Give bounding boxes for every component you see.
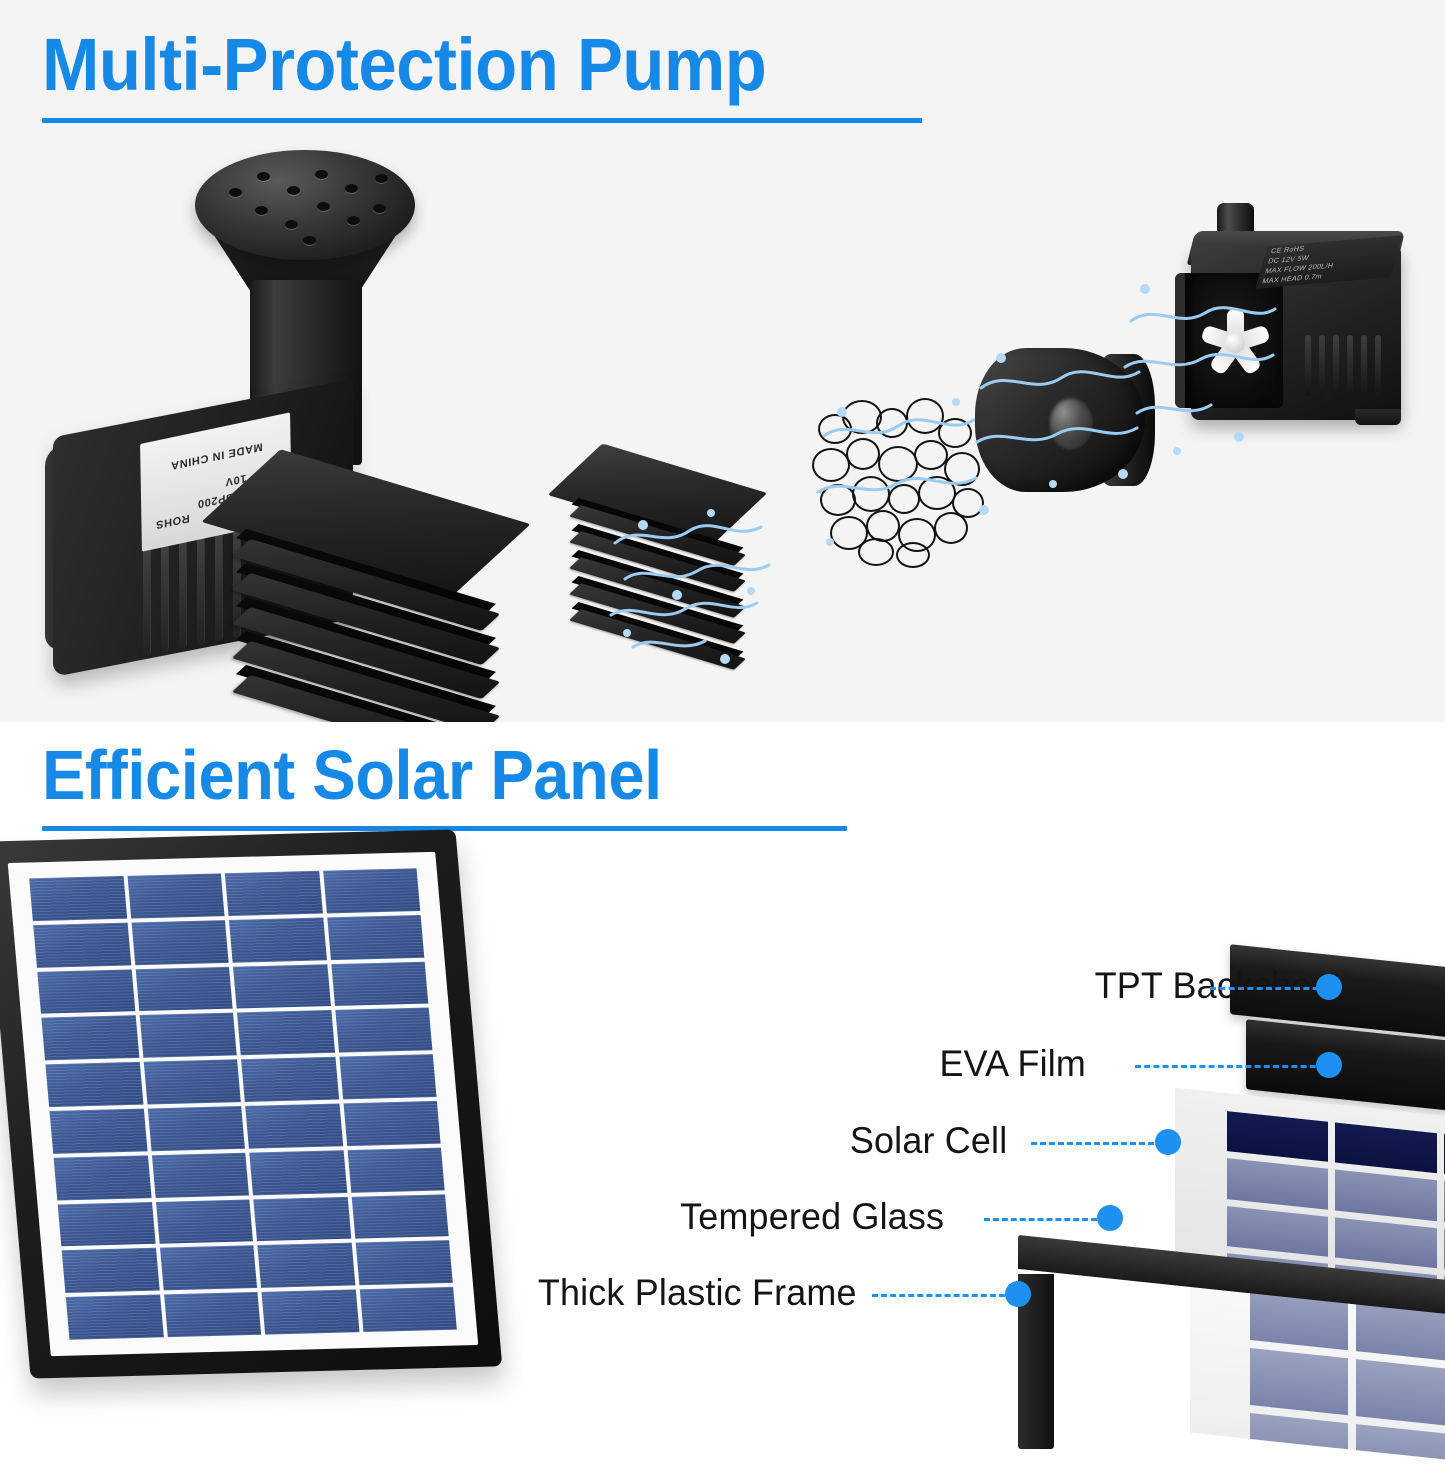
pump-section-title: Multi-Protection Pump xyxy=(42,28,860,102)
panel-cell-grid xyxy=(29,868,457,1339)
panel-outer-frame xyxy=(0,829,502,1378)
impeller-cover-image xyxy=(975,340,1160,500)
leader-line-thick-plastic-frame xyxy=(872,1294,1014,1297)
label-line-origin: MADE IN CHINA xyxy=(170,440,262,471)
motor-label-line-1: CE RoHS xyxy=(1270,245,1305,255)
leader-dot-tpt-backsheet xyxy=(1316,974,1342,1000)
exploded-filter-cage-image xyxy=(565,455,825,690)
assembled-pump-image: ROHS BP200 10V MADE IN CHINA xyxy=(45,140,565,720)
motor-label-line-2: DC 12V 5W xyxy=(1267,255,1310,265)
cover-inlet-hole xyxy=(1047,396,1093,450)
callout-label-tpt-backsheet: TPT Backsheet xyxy=(1095,965,1342,1007)
leader-dot-thick-plastic-frame xyxy=(1005,1281,1031,1307)
leader-dot-tempered-glass xyxy=(1097,1205,1123,1231)
pump-motor-image: CE RoHS DC 12V 5W MAX FLOW 200L/H MAX HE… xyxy=(1155,195,1445,480)
infographic-page: Multi-Protection Pump xyxy=(0,0,1445,1445)
callout-thick-plastic-frame: Thick Plastic Frame xyxy=(528,1272,1043,1316)
pump-heading-block: Multi-Protection Pump xyxy=(42,28,922,123)
leader-line-solar-cell xyxy=(1031,1142,1163,1145)
motor-label-line-4: MAX HEAD 0.7m xyxy=(1261,273,1322,285)
motor-foot xyxy=(1355,409,1401,425)
filter-cage xyxy=(241,468,526,722)
motor-cooling-ribs xyxy=(1305,335,1393,405)
panel-section-title: Efficient Solar Panel xyxy=(42,740,791,810)
impeller-blades xyxy=(1199,303,1271,381)
callout-label-tempered-glass: Tempered Glass xyxy=(680,1196,944,1238)
callout-label-eva-film: EVA Film xyxy=(940,1043,1086,1085)
leader-dot-eva-film xyxy=(1316,1052,1342,1078)
callout-label-solar-cell: Solar Cell xyxy=(850,1120,1008,1162)
layer-plastic-frame xyxy=(1000,1258,1445,1448)
callout-tempered-glass: Tempered Glass xyxy=(672,1196,1140,1240)
pump-title-underline xyxy=(42,118,922,123)
callout-label-thick-plastic-frame: Thick Plastic Frame xyxy=(538,1272,857,1314)
leader-dot-solar-cell xyxy=(1155,1129,1181,1155)
leader-line-eva-film xyxy=(1135,1065,1325,1068)
fountain-head-icon xyxy=(195,150,415,260)
panel-white-backing xyxy=(8,852,479,1356)
foam-mesh xyxy=(812,392,1002,567)
pump-section: Multi-Protection Pump xyxy=(0,0,1445,722)
foam-filter-image xyxy=(812,392,1002,567)
solar-panel-product-image xyxy=(8,834,508,1424)
callout-tpt-backsheet: TPT Backsheet xyxy=(910,965,1342,1009)
label-line-rohs: ROHS xyxy=(155,512,189,531)
leader-line-tempered-glass xyxy=(984,1218,1106,1221)
callout-eva-film: EVA Film xyxy=(935,1043,1342,1087)
leader-line-tpt-backsheet xyxy=(1210,987,1328,990)
panel-heading-block: Efficient Solar Panel xyxy=(42,740,847,831)
callout-solar-cell: Solar Cell xyxy=(845,1120,1197,1164)
